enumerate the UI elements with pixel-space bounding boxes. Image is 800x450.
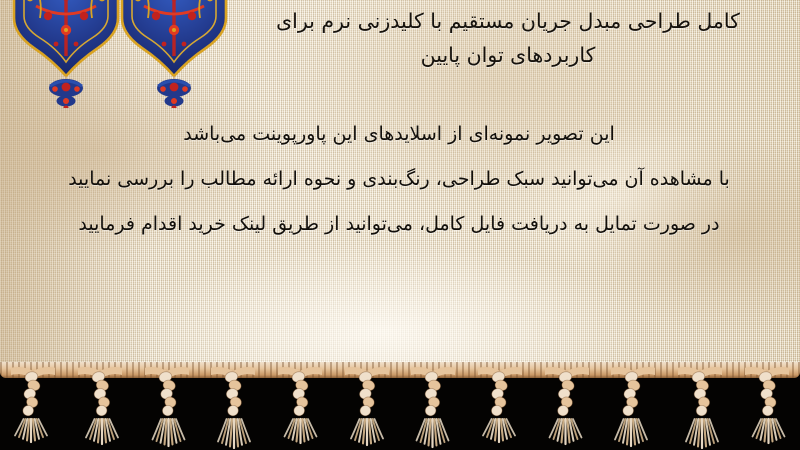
slide-title: کامل طراحی مبدل جریان مستقیم با کلیدزنی … (228, 4, 788, 72)
fringe-tassel (745, 366, 789, 450)
fringe-tassel (678, 366, 722, 450)
tassel-icon (11, 366, 55, 450)
fringe-tassel (478, 366, 522, 450)
fringe-tassel (345, 366, 389, 450)
tassel-icon (278, 366, 322, 450)
body-line-3: در صورت تمایل به دریافت فایل کامل، می‌تو… (6, 202, 792, 247)
tassel-icon (78, 366, 122, 450)
tassel-icon (678, 366, 722, 450)
fringe-tassel (145, 366, 189, 450)
tassel-icon (745, 366, 789, 450)
fringe-tassel (78, 366, 122, 450)
tassel-icon (611, 366, 655, 450)
body-line-1: این تصویر نمونه‌ای از اسلایدهای این پاور… (6, 112, 792, 157)
fringe-tassel (278, 366, 322, 450)
slide-canvas: کامل طراحی مبدل جریان مستقیم با کلیدزنی … (0, 0, 800, 450)
fringe-tassel (11, 366, 55, 450)
pendant-medallion-icon (118, 0, 230, 108)
fringe-tassel (211, 366, 255, 450)
tassel-icon (545, 366, 589, 450)
tassel-icon (211, 366, 255, 450)
carpet-pendant-right (118, 0, 230, 112)
tassel-icon (478, 366, 522, 450)
title-line-1: کامل طراحی مبدل جریان مستقیم با کلیدزنی … (228, 4, 788, 38)
pendant-medallion-icon (10, 0, 122, 108)
fringe-tassel (545, 366, 589, 450)
body-line-2: با مشاهده آن می‌توانید سبک طراحی، رنگ‌بن… (6, 157, 792, 202)
slide-body: این تصویر نمونه‌ای از اسلایدهای این پاور… (6, 112, 792, 247)
fringe-tassel (411, 366, 455, 450)
tassel-icon (345, 366, 389, 450)
tassel-icon (411, 366, 455, 450)
fringe-tassel (611, 366, 655, 450)
carpet-pendant-left (10, 0, 122, 112)
tassel-icon (145, 366, 189, 450)
carpet-fringe (0, 362, 800, 450)
title-line-2: کاربردهای توان پایین (228, 38, 788, 72)
